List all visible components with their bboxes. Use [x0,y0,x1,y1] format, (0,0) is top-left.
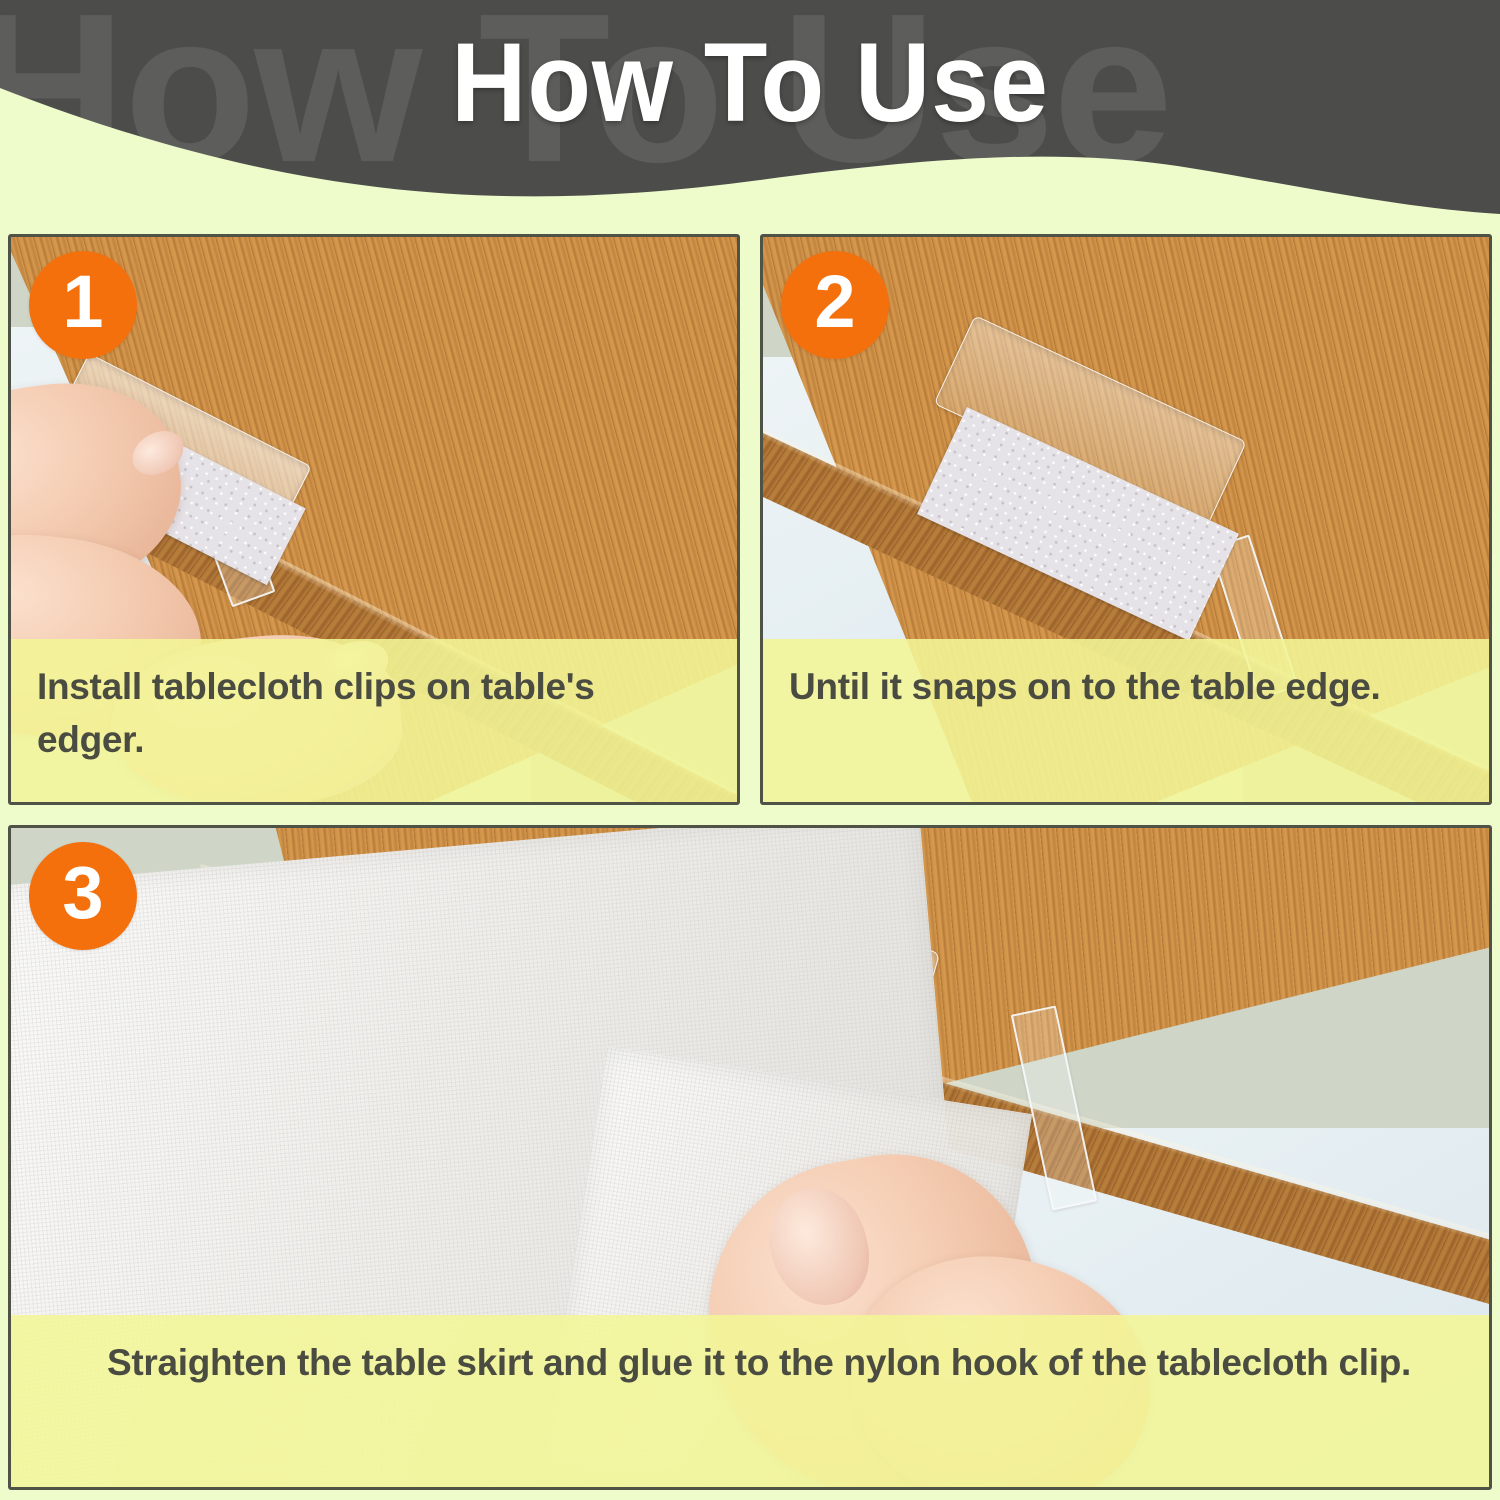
step-caption-3: Straighten the table skirt and glue it t… [11,1315,1489,1487]
steps-grid: 1 Install tablecloth clips on table's ed… [8,234,1492,1490]
step-panel-2[interactable]: 2 Until it snaps on to the table edge. [760,234,1492,805]
step-badge-1: 1 [29,251,137,359]
step-number-3: 3 [62,856,103,930]
how-to-use-infographic: How To Use How To Use [0,0,1500,1500]
header-banner: How To Use How To Use [0,0,1500,232]
page-title: How To Use [53,24,1448,142]
steps-row-bottom: 3 Straighten the table skirt and glue it… [8,825,1492,1490]
step-panel-3[interactable]: 3 Straighten the table skirt and glue it… [8,825,1492,1490]
steps-row-top: 1 Install tablecloth clips on table's ed… [8,234,1492,805]
step-badge-2: 2 [781,251,889,359]
step-number-1: 1 [62,265,103,339]
step-caption-1: Install tablecloth clips on table's edge… [11,639,737,802]
step-panel-1[interactable]: 1 Install tablecloth clips on table's ed… [8,234,740,805]
step-number-2: 2 [814,265,855,339]
step-badge-3: 3 [29,842,137,950]
step-caption-2: Until it snaps on to the table edge. [763,639,1489,802]
